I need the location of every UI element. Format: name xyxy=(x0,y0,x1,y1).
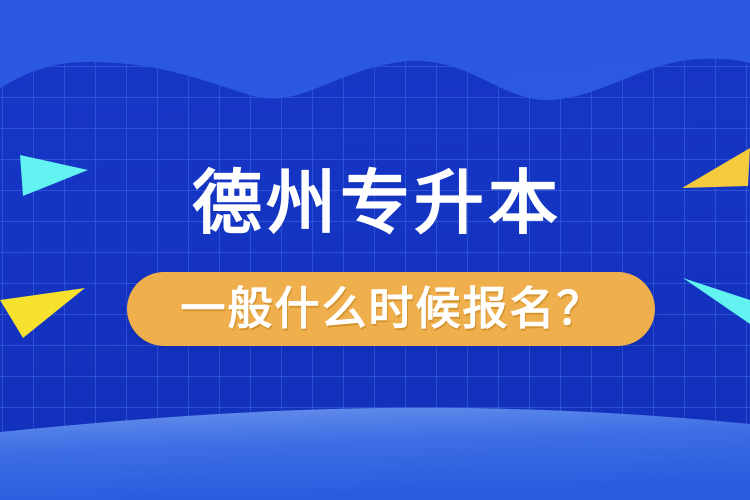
subtitle-pill: 一般什么时候报名？ xyxy=(127,272,655,346)
banner-content: 德州专升本 一般什么时候报名？ xyxy=(0,0,750,500)
subtitle-text: 一般什么时候报名？ xyxy=(178,284,603,334)
page-title: 德州专升本 xyxy=(0,161,750,245)
promo-banner: 德州专升本 一般什么时候报名？ xyxy=(0,0,750,500)
